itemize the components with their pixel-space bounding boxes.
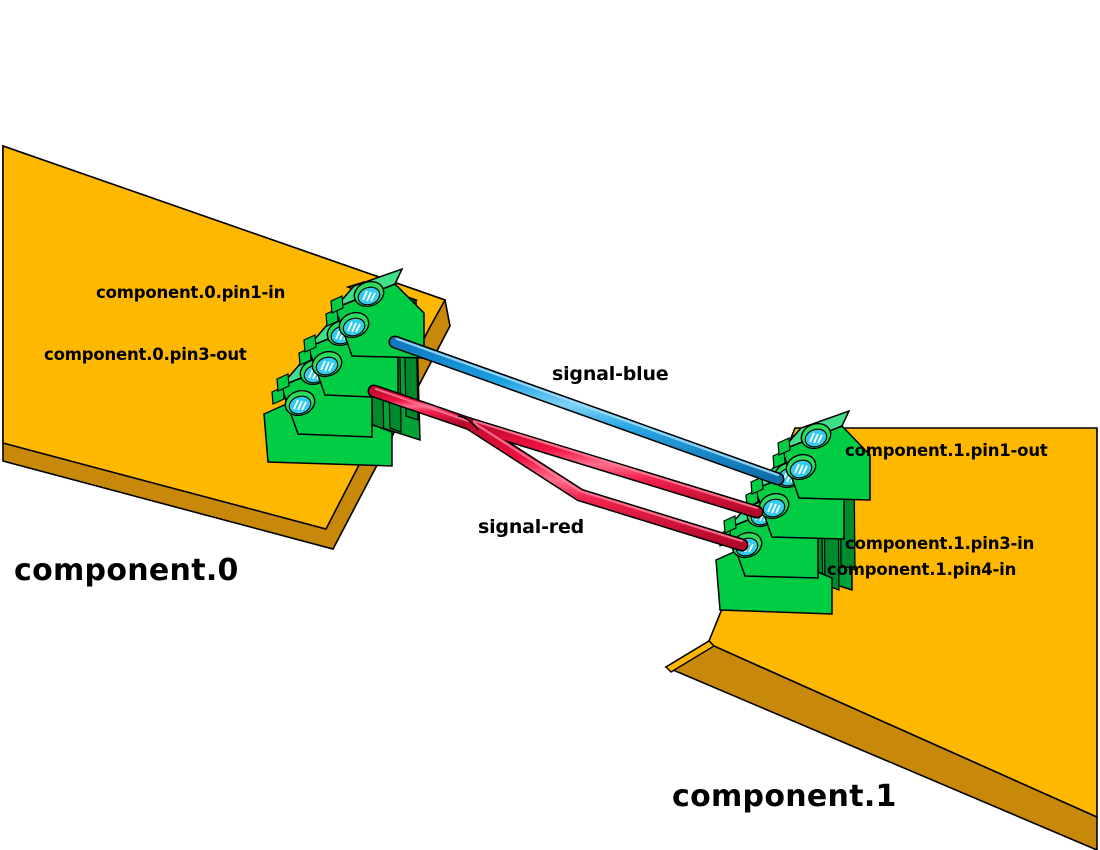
pin-label-component-0-pin3-out: component.0.pin3-out (44, 347, 247, 364)
diagram-canvas: component.0.pin1-in component.0.pin3-out… (0, 0, 1100, 850)
pin-label-component-1-pin1-out: component.1.pin1-out (845, 443, 1048, 460)
pin-label-component-1-pin4-in: component.1.pin4-in (827, 562, 1016, 579)
pin-label-component-1-pin3-in: component.1.pin3-in (845, 536, 1034, 553)
component-label-0: component.0 (14, 556, 239, 586)
signal-label-red: signal-red (478, 518, 584, 537)
signal-label-blue: signal-blue (552, 365, 669, 384)
pin-label-component-0-pin1-in: component.0.pin1-in (96, 285, 285, 302)
component-label-1: component.1 (672, 782, 897, 812)
wiring-scene (0, 0, 1100, 850)
